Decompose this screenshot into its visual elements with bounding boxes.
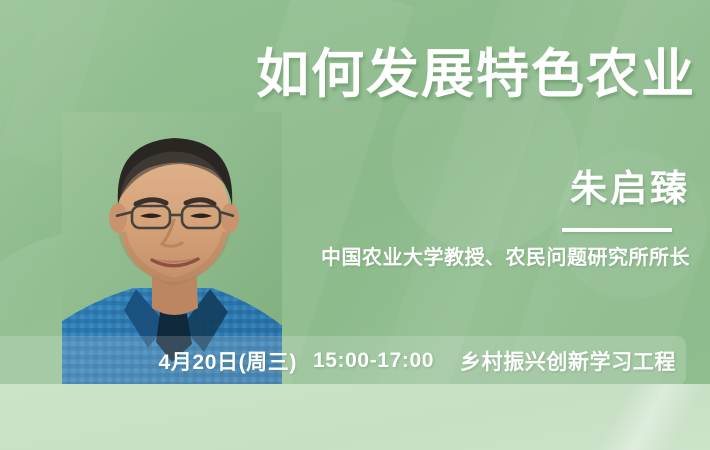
footer-panel (0, 384, 710, 450)
speaker-name: 朱启臻 (570, 170, 690, 207)
divider (562, 228, 672, 232)
schedule-time: 15:00-17:00 (313, 349, 434, 373)
schedule-date: 4月20日(周三) (159, 346, 297, 376)
page-title: 如何发展特色农业 (0, 48, 696, 101)
schedule-bar-text: 4月20日(周三) 15:00-17:00 乡村振兴创新学习工程 (0, 336, 676, 386)
schedule-program: 乡村振兴创新学习工程 (460, 346, 676, 376)
event-poster: 如何发展特色农业 朱启臻 中国农业大学教授、农民问题研究所所长 4月20日(周三… (0, 0, 710, 450)
speaker-role: 中国农业大学教授、农民问题研究所所长 (321, 248, 690, 268)
